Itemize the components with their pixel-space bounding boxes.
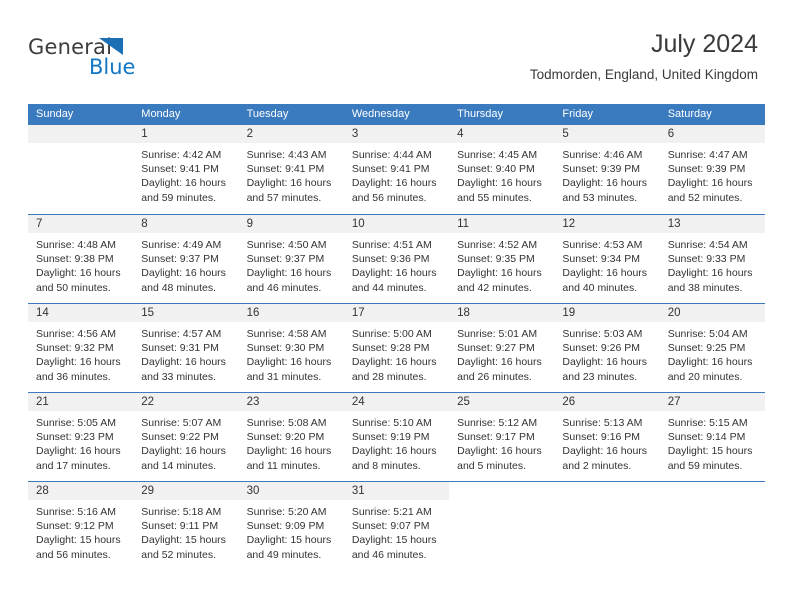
day-detail-line: Sunset: 9:39 PM xyxy=(668,162,757,176)
day-detail-line: Sunrise: 4:42 AM xyxy=(141,148,230,162)
day-detail-line: Sunrise: 4:46 AM xyxy=(562,148,651,162)
day-detail-line: and 36 minutes. xyxy=(36,370,125,384)
day-detail-line: Sunset: 9:37 PM xyxy=(141,252,230,266)
day-detail-line: Sunset: 9:34 PM xyxy=(562,252,651,266)
day-detail-line: Sunset: 9:28 PM xyxy=(352,341,441,355)
day-detail-line: and 8 minutes. xyxy=(352,459,441,473)
calendar-week-row: 1Sunrise: 4:42 AMSunset: 9:41 PMDaylight… xyxy=(28,125,765,214)
calendar-week-row: 21Sunrise: 5:05 AMSunset: 9:23 PMDayligh… xyxy=(28,392,765,481)
day-detail-line: Sunset: 9:30 PM xyxy=(247,341,336,355)
day-detail-line: Daylight: 16 hours xyxy=(36,444,125,458)
day-detail-line: Daylight: 16 hours xyxy=(36,355,125,369)
day-number: 31 xyxy=(344,482,449,500)
day-detail-line: Sunset: 9:22 PM xyxy=(141,430,230,444)
day-cell-4[interactable]: 4Sunrise: 4:45 AMSunset: 9:40 PMDaylight… xyxy=(449,125,554,214)
day-number: 17 xyxy=(344,304,449,322)
day-detail-line: Sunset: 9:38 PM xyxy=(36,252,125,266)
day-detail-line: Sunrise: 4:56 AM xyxy=(36,327,125,341)
day-detail-line: and 59 minutes. xyxy=(141,191,230,205)
day-details: Sunrise: 4:58 AMSunset: 9:30 PMDaylight:… xyxy=(239,322,344,384)
day-detail-line: Sunrise: 5:15 AM xyxy=(668,416,757,430)
day-detail-line: Sunset: 9:16 PM xyxy=(562,430,651,444)
day-details: Sunrise: 5:00 AMSunset: 9:28 PMDaylight:… xyxy=(344,322,449,384)
page-subtitle: Todmorden, England, United Kingdom xyxy=(530,67,758,83)
weekday-header-thursday: Thursday xyxy=(449,104,554,125)
day-cell-empty xyxy=(449,482,554,570)
day-detail-line: Sunrise: 4:52 AM xyxy=(457,238,546,252)
day-cell-empty xyxy=(660,482,765,570)
day-cell-27[interactable]: 27Sunrise: 5:15 AMSunset: 9:14 PMDayligh… xyxy=(660,393,765,481)
day-details: Sunrise: 5:01 AMSunset: 9:27 PMDaylight:… xyxy=(449,322,554,384)
day-detail-line: Daylight: 16 hours xyxy=(36,266,125,280)
day-detail-line: Daylight: 16 hours xyxy=(352,176,441,190)
day-details: Sunrise: 4:52 AMSunset: 9:35 PMDaylight:… xyxy=(449,233,554,295)
day-detail-line: Daylight: 16 hours xyxy=(668,355,757,369)
day-cell-23[interactable]: 23Sunrise: 5:08 AMSunset: 9:20 PMDayligh… xyxy=(239,393,344,481)
day-detail-line: and 5 minutes. xyxy=(457,459,546,473)
day-detail-line: Sunset: 9:25 PM xyxy=(668,341,757,355)
day-detail-line: and 49 minutes. xyxy=(247,548,336,562)
day-detail-line: Sunset: 9:07 PM xyxy=(352,519,441,533)
day-detail-line: and 53 minutes. xyxy=(562,191,651,205)
day-detail-line: and 56 minutes. xyxy=(352,191,441,205)
day-detail-line: Daylight: 16 hours xyxy=(141,444,230,458)
calendar-page: General Blue July 2024 Todmorden, Englan… xyxy=(0,0,792,612)
day-detail-line: Daylight: 16 hours xyxy=(352,355,441,369)
day-cell-10[interactable]: 10Sunrise: 4:51 AMSunset: 9:36 PMDayligh… xyxy=(344,215,449,303)
day-detail-line: Sunset: 9:36 PM xyxy=(352,252,441,266)
day-details: Sunrise: 5:07 AMSunset: 9:22 PMDaylight:… xyxy=(133,411,238,473)
day-details: Sunrise: 4:53 AMSunset: 9:34 PMDaylight:… xyxy=(554,233,659,295)
day-cell-empty xyxy=(554,482,659,570)
day-detail-line: and 11 minutes. xyxy=(247,459,336,473)
day-details: Sunrise: 5:03 AMSunset: 9:26 PMDaylight:… xyxy=(554,322,659,384)
day-details: Sunrise: 5:20 AMSunset: 9:09 PMDaylight:… xyxy=(239,500,344,562)
day-number: 24 xyxy=(344,393,449,411)
day-cell-30[interactable]: 30Sunrise: 5:20 AMSunset: 9:09 PMDayligh… xyxy=(239,482,344,570)
day-detail-line: and 23 minutes. xyxy=(562,370,651,384)
day-number: 4 xyxy=(449,125,554,143)
day-cell-16[interactable]: 16Sunrise: 4:58 AMSunset: 9:30 PMDayligh… xyxy=(239,304,344,392)
page-title: July 2024 xyxy=(530,28,758,60)
day-cell-28[interactable]: 28Sunrise: 5:16 AMSunset: 9:12 PMDayligh… xyxy=(28,482,133,570)
day-number: 25 xyxy=(449,393,554,411)
day-details: Sunrise: 4:43 AMSunset: 9:41 PMDaylight:… xyxy=(239,143,344,205)
calendar-weeks: 1Sunrise: 4:42 AMSunset: 9:41 PMDaylight… xyxy=(28,125,765,570)
day-detail-line: and 48 minutes. xyxy=(141,281,230,295)
day-details: Sunrise: 5:13 AMSunset: 9:16 PMDaylight:… xyxy=(554,411,659,473)
day-detail-line: Sunrise: 5:18 AM xyxy=(141,505,230,519)
weekday-header-saturday: Saturday xyxy=(660,104,765,125)
day-detail-line: and 20 minutes. xyxy=(668,370,757,384)
day-detail-line: Sunrise: 4:51 AM xyxy=(352,238,441,252)
day-cell-15[interactable]: 15Sunrise: 4:57 AMSunset: 9:31 PMDayligh… xyxy=(133,304,238,392)
day-detail-line: Sunrise: 5:13 AM xyxy=(562,416,651,430)
day-detail-line: and 52 minutes. xyxy=(668,191,757,205)
day-detail-line: and 33 minutes. xyxy=(141,370,230,384)
day-detail-line: Sunset: 9:12 PM xyxy=(36,519,125,533)
day-number: 19 xyxy=(554,304,659,322)
day-detail-line: Daylight: 16 hours xyxy=(562,176,651,190)
day-detail-line: Sunset: 9:39 PM xyxy=(562,162,651,176)
day-details: Sunrise: 5:18 AMSunset: 9:11 PMDaylight:… xyxy=(133,500,238,562)
day-detail-line: and 17 minutes. xyxy=(36,459,125,473)
day-detail-line: Sunrise: 5:01 AM xyxy=(457,327,546,341)
day-details: Sunrise: 5:16 AMSunset: 9:12 PMDaylight:… xyxy=(28,500,133,562)
day-detail-line: Sunset: 9:20 PM xyxy=(247,430,336,444)
day-detail-line: Daylight: 16 hours xyxy=(457,444,546,458)
day-detail-line: and 42 minutes. xyxy=(457,281,546,295)
day-details: Sunrise: 4:46 AMSunset: 9:39 PMDaylight:… xyxy=(554,143,659,205)
day-details: Sunrise: 4:54 AMSunset: 9:33 PMDaylight:… xyxy=(660,233,765,295)
day-number: 2 xyxy=(239,125,344,143)
day-detail-line: Sunrise: 5:00 AM xyxy=(352,327,441,341)
day-detail-line: and 56 minutes. xyxy=(36,548,125,562)
day-detail-line: Sunrise: 4:50 AM xyxy=(247,238,336,252)
day-detail-line: Daylight: 16 hours xyxy=(668,176,757,190)
day-detail-line: and 52 minutes. xyxy=(141,548,230,562)
day-cell-12[interactable]: 12Sunrise: 4:53 AMSunset: 9:34 PMDayligh… xyxy=(554,215,659,303)
day-detail-line: Sunrise: 5:05 AM xyxy=(36,416,125,430)
day-cell-empty xyxy=(28,125,133,214)
day-detail-line: Sunset: 9:40 PM xyxy=(457,162,546,176)
day-cell-5[interactable]: 5Sunrise: 4:46 AMSunset: 9:39 PMDaylight… xyxy=(554,125,659,214)
day-detail-line: Daylight: 16 hours xyxy=(352,266,441,280)
day-number: 27 xyxy=(660,393,765,411)
day-cell-22[interactable]: 22Sunrise: 5:07 AMSunset: 9:22 PMDayligh… xyxy=(133,393,238,481)
day-cell-1[interactable]: 1Sunrise: 4:42 AMSunset: 9:41 PMDaylight… xyxy=(133,125,238,214)
day-detail-line: Daylight: 16 hours xyxy=(247,176,336,190)
day-details: Sunrise: 5:08 AMSunset: 9:20 PMDaylight:… xyxy=(239,411,344,473)
day-detail-line: and 46 minutes. xyxy=(352,548,441,562)
weekday-header-monday: Monday xyxy=(133,104,238,125)
day-detail-line: Sunset: 9:33 PM xyxy=(668,252,757,266)
day-number: 23 xyxy=(239,393,344,411)
day-detail-line: Daylight: 16 hours xyxy=(141,355,230,369)
day-detail-line: Daylight: 16 hours xyxy=(352,444,441,458)
day-detail-line: Sunset: 9:09 PM xyxy=(247,519,336,533)
day-cell-2[interactable]: 2Sunrise: 4:43 AMSunset: 9:41 PMDaylight… xyxy=(239,125,344,214)
day-detail-line: Daylight: 16 hours xyxy=(668,266,757,280)
day-detail-line: Daylight: 16 hours xyxy=(457,355,546,369)
day-number: 7 xyxy=(28,215,133,233)
day-detail-line: Sunrise: 5:21 AM xyxy=(352,505,441,519)
day-cell-17[interactable]: 17Sunrise: 5:00 AMSunset: 9:28 PMDayligh… xyxy=(344,304,449,392)
day-details: Sunrise: 4:45 AMSunset: 9:40 PMDaylight:… xyxy=(449,143,554,205)
day-detail-line: Sunrise: 4:47 AM xyxy=(668,148,757,162)
day-cell-26[interactable]: 26Sunrise: 5:13 AMSunset: 9:16 PMDayligh… xyxy=(554,393,659,481)
day-details: Sunrise: 4:47 AMSunset: 9:39 PMDaylight:… xyxy=(660,143,765,205)
weekday-header-row: SundayMondayTuesdayWednesdayThursdayFrid… xyxy=(28,104,765,125)
day-number: 12 xyxy=(554,215,659,233)
day-cell-6[interactable]: 6Sunrise: 4:47 AMSunset: 9:39 PMDaylight… xyxy=(660,125,765,214)
day-details: Sunrise: 5:04 AMSunset: 9:25 PMDaylight:… xyxy=(660,322,765,384)
day-number: 15 xyxy=(133,304,238,322)
day-detail-line: Daylight: 16 hours xyxy=(141,176,230,190)
day-cell-20[interactable]: 20Sunrise: 5:04 AMSunset: 9:25 PMDayligh… xyxy=(660,304,765,392)
day-number: 5 xyxy=(554,125,659,143)
calendar-week-row: 14Sunrise: 4:56 AMSunset: 9:32 PMDayligh… xyxy=(28,303,765,392)
day-details: Sunrise: 5:12 AMSunset: 9:17 PMDaylight:… xyxy=(449,411,554,473)
day-number: 14 xyxy=(28,304,133,322)
day-detail-line: Sunset: 9:35 PM xyxy=(457,252,546,266)
day-details: Sunrise: 4:57 AMSunset: 9:31 PMDaylight:… xyxy=(133,322,238,384)
day-details: Sunrise: 4:42 AMSunset: 9:41 PMDaylight:… xyxy=(133,143,238,205)
title-block: July 2024 Todmorden, England, United Kin… xyxy=(530,28,758,83)
day-detail-line: Sunrise: 4:43 AM xyxy=(247,148,336,162)
weekday-header-sunday: Sunday xyxy=(28,104,133,125)
day-detail-line: and 55 minutes. xyxy=(457,191,546,205)
day-detail-line: Sunrise: 4:44 AM xyxy=(352,148,441,162)
day-detail-line: Sunset: 9:31 PM xyxy=(141,341,230,355)
day-detail-line: Sunrise: 4:45 AM xyxy=(457,148,546,162)
day-detail-line: Sunrise: 4:57 AM xyxy=(141,327,230,341)
logo-triangle-icon xyxy=(99,38,123,55)
day-number: 30 xyxy=(239,482,344,500)
day-detail-line: Sunrise: 4:53 AM xyxy=(562,238,651,252)
day-detail-line: and 46 minutes. xyxy=(247,281,336,295)
day-detail-line: Daylight: 16 hours xyxy=(141,266,230,280)
day-number: 1 xyxy=(133,125,238,143)
day-number xyxy=(660,482,765,500)
day-number: 22 xyxy=(133,393,238,411)
day-detail-line: and 50 minutes. xyxy=(36,281,125,295)
day-cell-11[interactable]: 11Sunrise: 4:52 AMSunset: 9:35 PMDayligh… xyxy=(449,215,554,303)
general-blue-logo: General Blue xyxy=(28,36,208,90)
day-number: 10 xyxy=(344,215,449,233)
day-cell-25[interactable]: 25Sunrise: 5:12 AMSunset: 9:17 PMDayligh… xyxy=(449,393,554,481)
day-detail-line: Sunset: 9:14 PM xyxy=(668,430,757,444)
day-detail-line: and 2 minutes. xyxy=(562,459,651,473)
day-detail-line: and 14 minutes. xyxy=(141,459,230,473)
day-detail-line: Daylight: 16 hours xyxy=(562,355,651,369)
day-detail-line: Sunrise: 5:07 AM xyxy=(141,416,230,430)
day-number: 6 xyxy=(660,125,765,143)
day-number xyxy=(554,482,659,500)
logo-text-blue: Blue xyxy=(89,56,135,78)
day-cell-21[interactable]: 21Sunrise: 5:05 AMSunset: 9:23 PMDayligh… xyxy=(28,393,133,481)
day-detail-line: Daylight: 16 hours xyxy=(247,266,336,280)
weekday-header-wednesday: Wednesday xyxy=(344,104,449,125)
day-detail-line: Sunrise: 5:20 AM xyxy=(247,505,336,519)
day-number: 28 xyxy=(28,482,133,500)
day-detail-line: Daylight: 16 hours xyxy=(562,444,651,458)
day-detail-line: Sunrise: 5:03 AM xyxy=(562,327,651,341)
day-number: 16 xyxy=(239,304,344,322)
day-detail-line: Sunset: 9:11 PM xyxy=(141,519,230,533)
day-details: Sunrise: 5:15 AMSunset: 9:14 PMDaylight:… xyxy=(660,411,765,473)
day-number: 8 xyxy=(133,215,238,233)
day-cell-31[interactable]: 31Sunrise: 5:21 AMSunset: 9:07 PMDayligh… xyxy=(344,482,449,570)
day-details: Sunrise: 5:05 AMSunset: 9:23 PMDaylight:… xyxy=(28,411,133,473)
day-number: 18 xyxy=(449,304,554,322)
day-detail-line: Sunset: 9:23 PM xyxy=(36,430,125,444)
day-detail-line: Daylight: 15 hours xyxy=(247,533,336,547)
day-detail-line: and 28 minutes. xyxy=(352,370,441,384)
day-detail-line: and 44 minutes. xyxy=(352,281,441,295)
day-cell-19[interactable]: 19Sunrise: 5:03 AMSunset: 9:26 PMDayligh… xyxy=(554,304,659,392)
weekday-header-friday: Friday xyxy=(554,104,659,125)
day-detail-line: Sunrise: 4:58 AM xyxy=(247,327,336,341)
day-number xyxy=(449,482,554,500)
day-cell-7[interactable]: 7Sunrise: 4:48 AMSunset: 9:38 PMDaylight… xyxy=(28,215,133,303)
day-detail-line: and 38 minutes. xyxy=(668,281,757,295)
day-detail-line: Sunset: 9:19 PM xyxy=(352,430,441,444)
day-number: 9 xyxy=(239,215,344,233)
day-details: Sunrise: 5:10 AMSunset: 9:19 PMDaylight:… xyxy=(344,411,449,473)
day-detail-line: Sunrise: 5:16 AM xyxy=(36,505,125,519)
day-detail-line: Sunset: 9:26 PM xyxy=(562,341,651,355)
day-details: Sunrise: 4:51 AMSunset: 9:36 PMDaylight:… xyxy=(344,233,449,295)
day-detail-line: Daylight: 16 hours xyxy=(247,355,336,369)
page-header: General Blue July 2024 Todmorden, Englan… xyxy=(28,28,758,96)
day-details: Sunrise: 4:56 AMSunset: 9:32 PMDaylight:… xyxy=(28,322,133,384)
day-number: 21 xyxy=(28,393,133,411)
day-cell-8[interactable]: 8Sunrise: 4:49 AMSunset: 9:37 PMDaylight… xyxy=(133,215,238,303)
day-detail-line: Sunset: 9:41 PM xyxy=(141,162,230,176)
day-number: 26 xyxy=(554,393,659,411)
day-cell-9[interactable]: 9Sunrise: 4:50 AMSunset: 9:37 PMDaylight… xyxy=(239,215,344,303)
day-detail-line: and 59 minutes. xyxy=(668,459,757,473)
calendar-week-row: 7Sunrise: 4:48 AMSunset: 9:38 PMDaylight… xyxy=(28,214,765,303)
calendar-grid: SundayMondayTuesdayWednesdayThursdayFrid… xyxy=(28,104,765,570)
day-cell-24[interactable]: 24Sunrise: 5:10 AMSunset: 9:19 PMDayligh… xyxy=(344,393,449,481)
day-detail-line: Sunset: 9:17 PM xyxy=(457,430,546,444)
day-cell-18[interactable]: 18Sunrise: 5:01 AMSunset: 9:27 PMDayligh… xyxy=(449,304,554,392)
day-detail-line: Sunrise: 4:48 AM xyxy=(36,238,125,252)
day-number: 11 xyxy=(449,215,554,233)
day-detail-line: Sunset: 9:41 PM xyxy=(352,162,441,176)
day-details: Sunrise: 4:44 AMSunset: 9:41 PMDaylight:… xyxy=(344,143,449,205)
day-detail-line: and 26 minutes. xyxy=(457,370,546,384)
day-details: Sunrise: 5:21 AMSunset: 9:07 PMDaylight:… xyxy=(344,500,449,562)
day-details: Sunrise: 4:49 AMSunset: 9:37 PMDaylight:… xyxy=(133,233,238,295)
weekday-header-tuesday: Tuesday xyxy=(239,104,344,125)
day-detail-line: Sunset: 9:27 PM xyxy=(457,341,546,355)
day-detail-line: Daylight: 15 hours xyxy=(36,533,125,547)
day-detail-line: Daylight: 16 hours xyxy=(562,266,651,280)
day-detail-line: Daylight: 16 hours xyxy=(457,266,546,280)
day-detail-line: Sunrise: 5:12 AM xyxy=(457,416,546,430)
day-detail-line: Daylight: 15 hours xyxy=(141,533,230,547)
day-detail-line: Sunset: 9:37 PM xyxy=(247,252,336,266)
day-cell-3[interactable]: 3Sunrise: 4:44 AMSunset: 9:41 PMDaylight… xyxy=(344,125,449,214)
day-detail-line: Sunrise: 5:04 AM xyxy=(668,327,757,341)
day-detail-line: Sunrise: 4:49 AM xyxy=(141,238,230,252)
day-detail-line: Sunrise: 5:08 AM xyxy=(247,416,336,430)
day-detail-line: Daylight: 16 hours xyxy=(457,176,546,190)
day-cell-14[interactable]: 14Sunrise: 4:56 AMSunset: 9:32 PMDayligh… xyxy=(28,304,133,392)
day-cell-29[interactable]: 29Sunrise: 5:18 AMSunset: 9:11 PMDayligh… xyxy=(133,482,238,570)
day-detail-line: Sunrise: 5:10 AM xyxy=(352,416,441,430)
calendar-week-row: 28Sunrise: 5:16 AMSunset: 9:12 PMDayligh… xyxy=(28,481,765,570)
day-detail-line: Sunset: 9:32 PM xyxy=(36,341,125,355)
day-number: 13 xyxy=(660,215,765,233)
day-details: Sunrise: 4:48 AMSunset: 9:38 PMDaylight:… xyxy=(28,233,133,295)
day-detail-line: Daylight: 15 hours xyxy=(668,444,757,458)
day-detail-line: and 57 minutes. xyxy=(247,191,336,205)
day-detail-line: and 31 minutes. xyxy=(247,370,336,384)
day-number: 20 xyxy=(660,304,765,322)
day-detail-line: Sunset: 9:41 PM xyxy=(247,162,336,176)
day-number xyxy=(28,125,133,143)
day-number: 29 xyxy=(133,482,238,500)
day-detail-line: Sunrise: 4:54 AM xyxy=(668,238,757,252)
day-detail-line: and 40 minutes. xyxy=(562,281,651,295)
day-detail-line: Daylight: 16 hours xyxy=(247,444,336,458)
day-details: Sunrise: 4:50 AMSunset: 9:37 PMDaylight:… xyxy=(239,233,344,295)
day-cell-13[interactable]: 13Sunrise: 4:54 AMSunset: 9:33 PMDayligh… xyxy=(660,215,765,303)
day-detail-line: Daylight: 15 hours xyxy=(352,533,441,547)
day-number: 3 xyxy=(344,125,449,143)
